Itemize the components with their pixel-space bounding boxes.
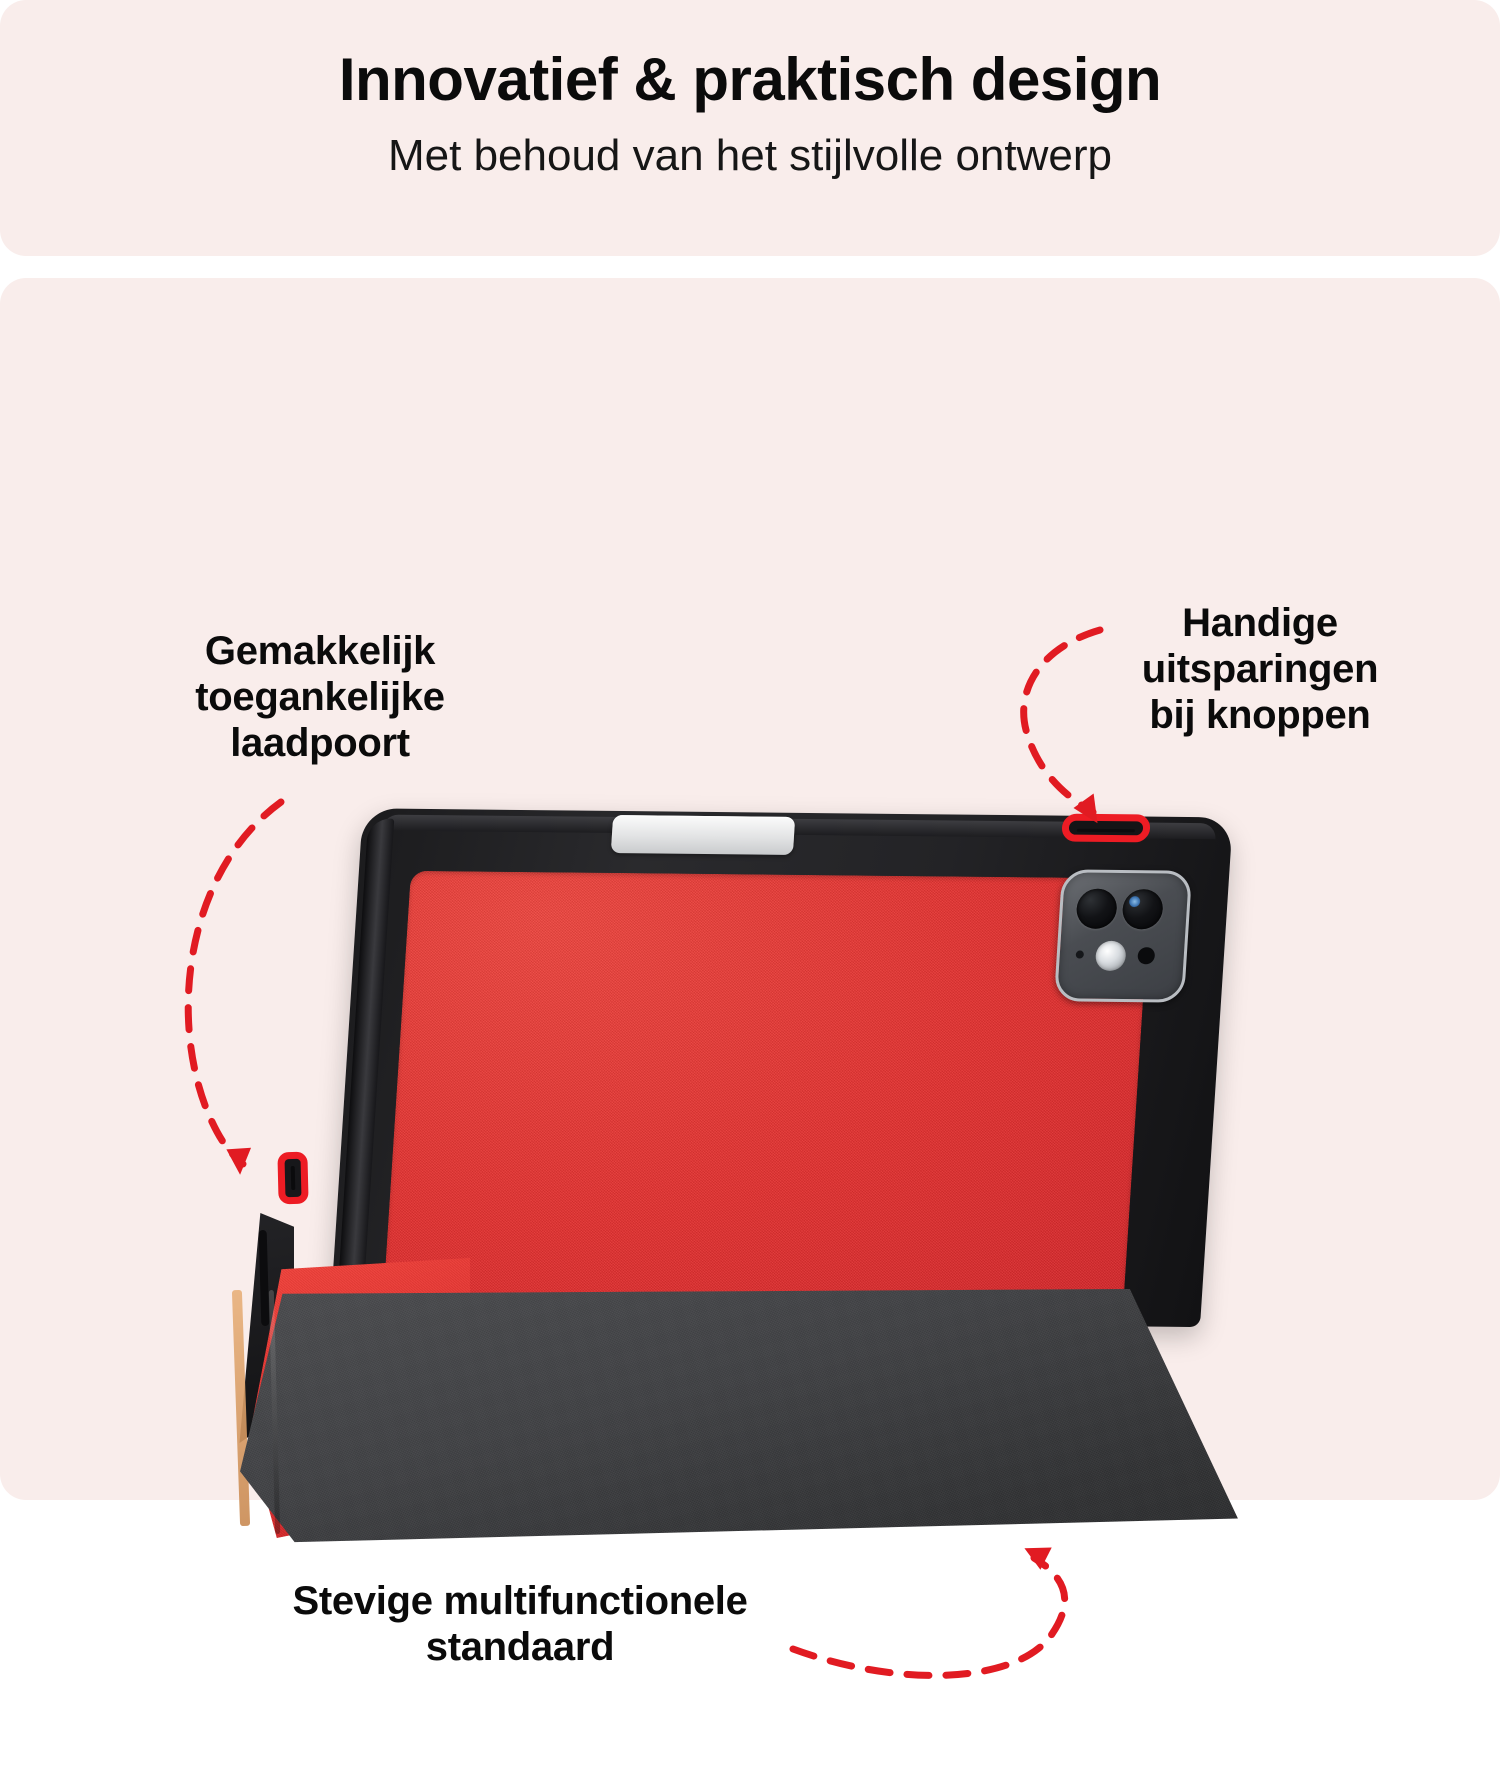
- callout-button-cutouts: Handige uitsparingen bij knoppen: [1060, 600, 1460, 738]
- callout-stand: Stevige multifunctionele standaard: [190, 1578, 850, 1670]
- charging-port-cutout: [277, 1152, 308, 1205]
- volume-button-cutout: [1061, 814, 1151, 843]
- product-image: [0, 278, 1500, 1778]
- telephoto-lens-icon: [1121, 889, 1164, 929]
- wide-lens-icon: [1075, 889, 1118, 929]
- stand-panel: [236, 1288, 1246, 1550]
- case-left-edge: [337, 818, 395, 1310]
- lidar-sensor-icon: [1137, 947, 1155, 964]
- header-panel: Innovatief & praktisch design Met behoud…: [0, 0, 1500, 256]
- infographic-page: Innovatief & praktisch design Met behoud…: [0, 0, 1500, 1500]
- flash-led-icon: [1095, 941, 1127, 971]
- main-panel: Gemakkelijk toegankelijke laadpoort Hand…: [0, 278, 1500, 1500]
- page-title: Innovatief & praktisch design: [0, 48, 1500, 111]
- camera-module: [1054, 869, 1192, 1002]
- page-subtitle: Met behoud van het stijlvolle ontwerp: [0, 132, 1500, 180]
- microphone-dot-icon: [1076, 951, 1085, 959]
- stylus-magnetic-slot: [611, 815, 795, 855]
- red-leather-front-panel: [383, 871, 1151, 1316]
- callout-charging-port: Gemakkelijk toegankelijke laadpoort: [110, 628, 530, 766]
